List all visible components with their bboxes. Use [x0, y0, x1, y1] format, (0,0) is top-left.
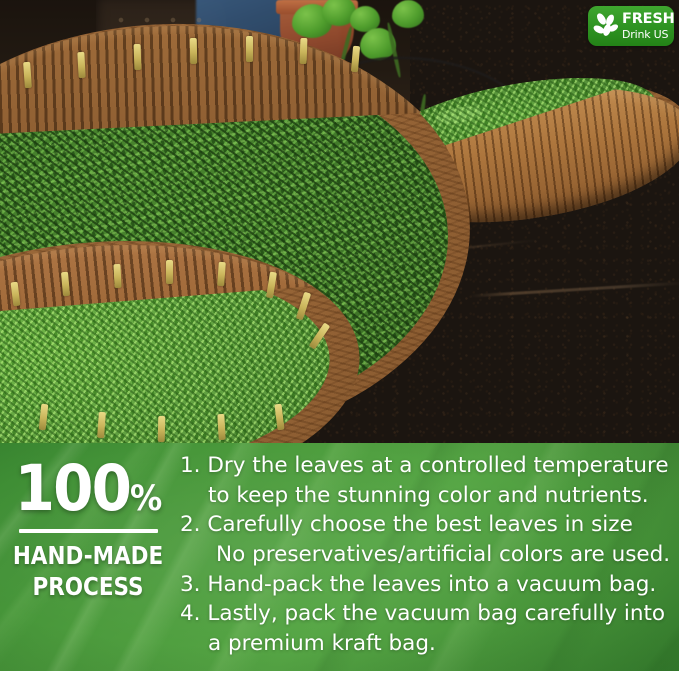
badge-percent-number: 100: [15, 452, 130, 525]
infographic-poster: FRESH Drink US 100% HAND-MADE PROCESS 1.…: [0, 0, 679, 679]
process-step: 3. Hand-pack the leaves into a vacuum ba…: [180, 570, 672, 600]
badge-percent-symbol: %: [130, 479, 161, 519]
tray-binding: [158, 416, 165, 442]
bottom-white-strip: [0, 671, 679, 675]
process-step: to keep the stunning color and nutrients…: [180, 481, 672, 511]
badge-percent: 100%: [7, 457, 169, 520]
tray-binding: [166, 260, 173, 284]
logo-line-drink-us: Drink US: [622, 29, 675, 40]
tray-binding: [190, 38, 197, 64]
badge-divider: [19, 529, 158, 533]
process-step: 4. Lastly, pack the vacuum bag carefully…: [180, 599, 672, 629]
process-step: 2. Carefully choose the best leaves in s…: [180, 510, 672, 540]
tray-binding: [217, 414, 225, 440]
tray-binding: [77, 52, 85, 78]
tray-binding: [113, 264, 121, 288]
tray-binding: [300, 38, 308, 64]
brand-logo[interactable]: FRESH Drink US: [588, 6, 674, 46]
process-step: No preservatives/artificial colors are u…: [180, 540, 672, 570]
badge-line-hand-made: HAND-MADE: [12, 541, 163, 572]
process-steps-list: 1. Dry the leaves at a controlled temper…: [180, 451, 672, 659]
product-photo: [0, 0, 679, 443]
badge-line-process: PROCESS: [12, 572, 163, 603]
tray-binding: [134, 44, 142, 70]
tray-binding: [246, 36, 253, 62]
instructions-band: 100% HAND-MADE PROCESS 1. Dry the leaves…: [0, 443, 679, 675]
leaf-cluster-icon: [593, 12, 619, 40]
process-step: 1. Dry the leaves at a controlled temper…: [180, 451, 672, 481]
plant-leaf-icon: [392, 0, 424, 28]
logo-line-fresh: FRESH: [622, 12, 675, 27]
process-step: a premium kraft bag.: [180, 629, 672, 659]
logo-wordmark: FRESH Drink US: [622, 12, 675, 40]
hand-made-badge: 100% HAND-MADE PROCESS: [0, 457, 176, 602]
